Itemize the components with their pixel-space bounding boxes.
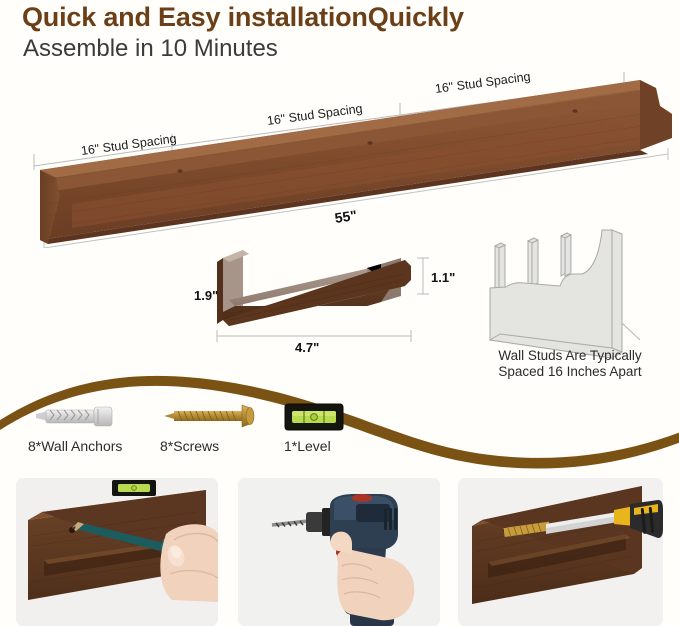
shelf-right-end (640, 80, 672, 150)
hardware-item-level: 1*Level (284, 400, 404, 462)
photo-3-svg (458, 478, 663, 626)
stud-leader-line (622, 323, 640, 340)
dimension-lip-label: 1.1" (431, 270, 455, 285)
wall-anchor-icon (28, 400, 124, 432)
screw-hole (572, 109, 577, 113)
dimension-height-label: 1.9" (194, 288, 218, 303)
hardware-label-wall-anchors: 8*Wall Anchors (28, 438, 122, 454)
hardware-item-wall-anchors: 8*Wall Anchors (28, 400, 168, 462)
screw-icon (160, 400, 264, 432)
shelf-illustration: 16" Stud Spacing 16" Stud Spacing 16" St… (0, 58, 679, 248)
photo-drive-screw (458, 478, 663, 626)
infographic-page: Quick and Easy installationQuickly Assem… (0, 0, 679, 626)
cross-section-diagram: 1.9" 1.1" 4.7" (195, 240, 445, 365)
level-icon (284, 400, 346, 434)
screw-hole (367, 141, 372, 145)
photo-2-svg (238, 478, 440, 626)
page-title: Quick and Easy installationQuickly (22, 2, 464, 33)
photo-1-svg (16, 478, 218, 626)
wall-studs-caption-line1: Wall Studs Are Typically (460, 348, 679, 364)
cross-section-svg (195, 240, 445, 365)
hardware-label-screws: 8*Screws (160, 438, 219, 454)
hardware-label-level: 1*Level (284, 438, 331, 454)
photo-mark-with-pencil (16, 478, 218, 626)
shelf-length-label: 55" (334, 207, 358, 226)
dimension-lip (417, 258, 429, 294)
dimension-width-label: 4.7" (295, 340, 319, 355)
hardware-item-screws: 8*Screws (160, 400, 300, 462)
screw-hole (177, 169, 182, 173)
photo-drill-wall (238, 478, 440, 626)
stud-shapes (490, 230, 622, 358)
installation-photos (0, 478, 679, 626)
